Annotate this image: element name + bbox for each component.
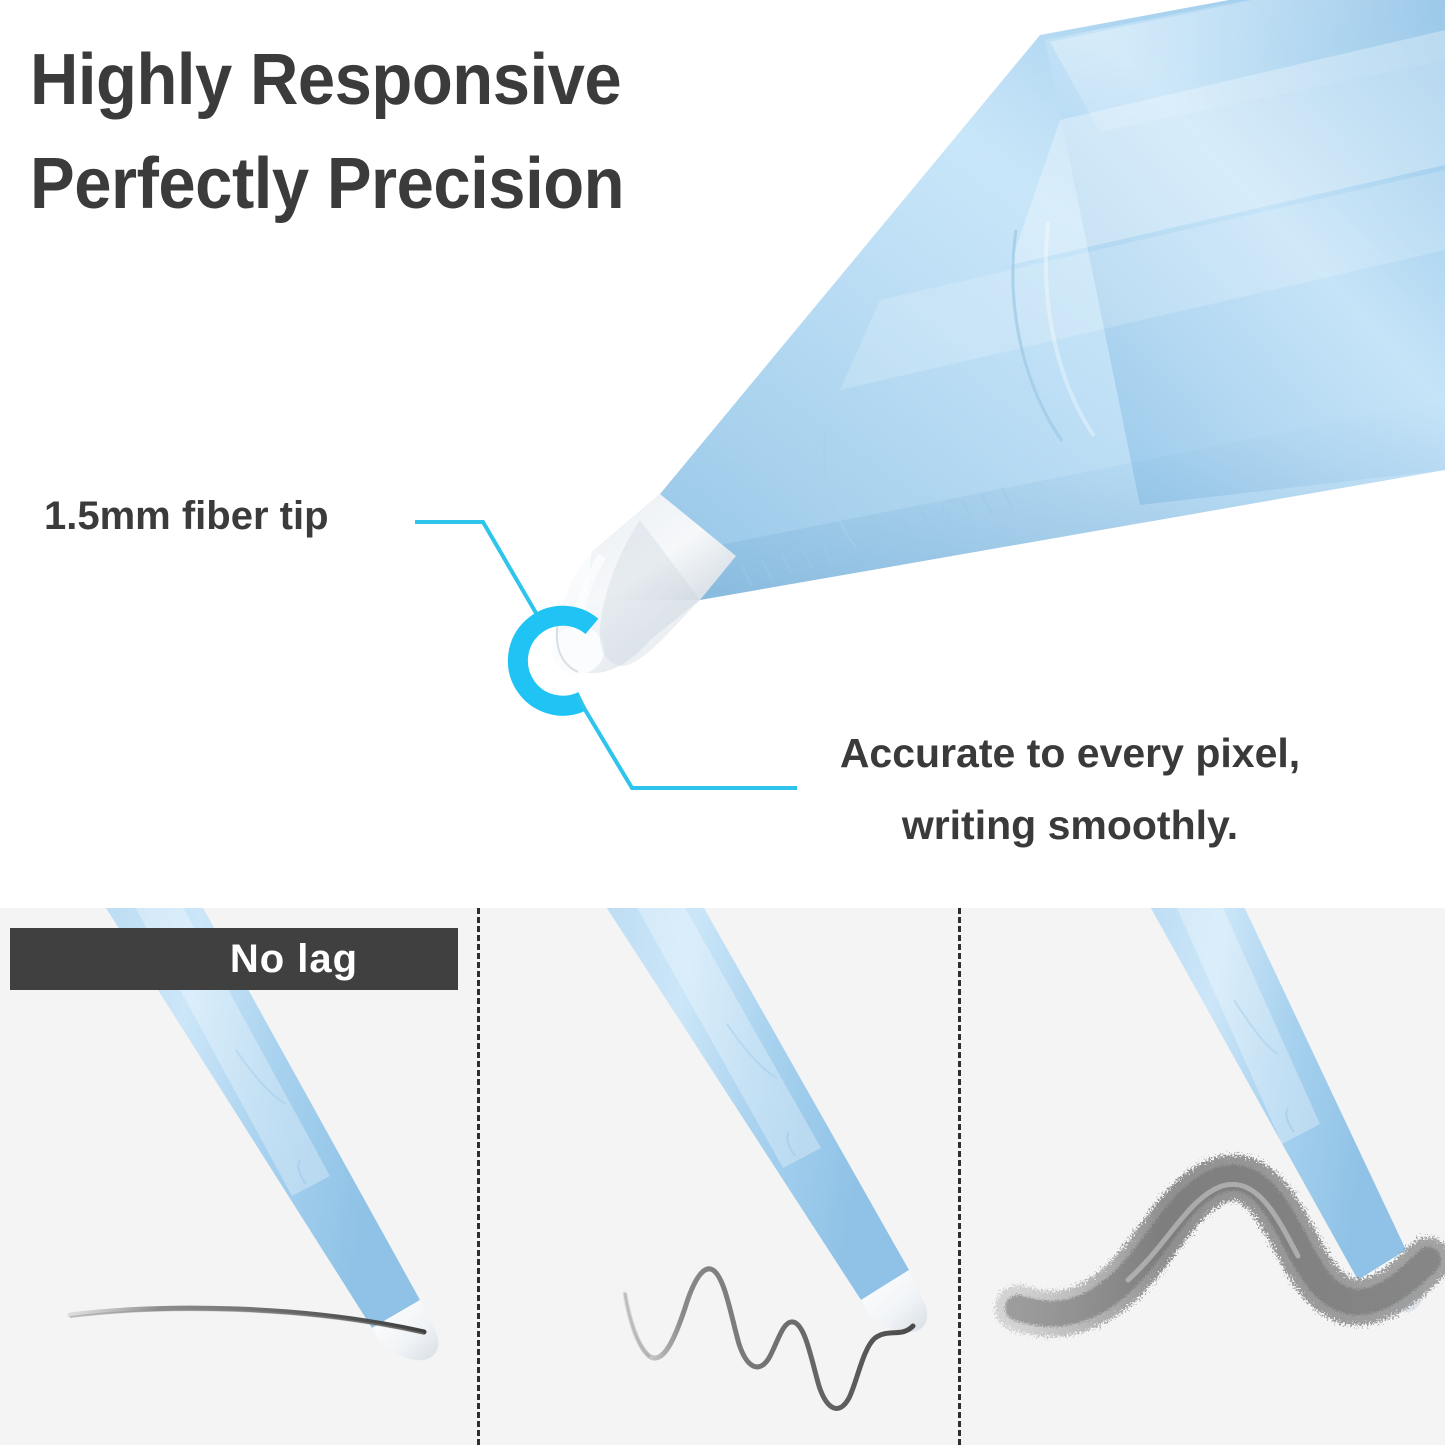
panel-divider-2 bbox=[958, 908, 961, 1445]
callout-leader-top bbox=[417, 522, 543, 625]
panel-label-no-lag: No lag bbox=[10, 928, 458, 990]
callout-leader-bottom bbox=[578, 698, 795, 788]
feature-panel-continuous-line: Continuous line bbox=[477, 908, 958, 1445]
feature-panel-no-slip: No slip bbox=[958, 908, 1445, 1445]
callout-label-fiber-tip: 1.5mm fiber tip bbox=[44, 494, 329, 539]
panel-divider-1 bbox=[477, 908, 480, 1445]
feature-panel-no-lag: No lag bbox=[0, 908, 477, 1445]
no-slip-illustration bbox=[958, 908, 1445, 1445]
callout-label-accuracy: Accurate to every pixel, writing smoothl… bbox=[770, 718, 1370, 862]
page-title: Highly Responsive Perfectly Precision bbox=[30, 28, 811, 237]
stylus-pen-small bbox=[529, 908, 927, 1332]
feature-panels: No lag bbox=[0, 908, 1445, 1445]
continuous-line-illustration bbox=[477, 908, 958, 1445]
product-marketing-image: Highly Responsive Perfectly Precision 1.… bbox=[0, 0, 1445, 1445]
hero-section: Highly Responsive Perfectly Precision 1.… bbox=[0, 0, 1445, 908]
panel-label-text: No lag bbox=[230, 937, 358, 982]
